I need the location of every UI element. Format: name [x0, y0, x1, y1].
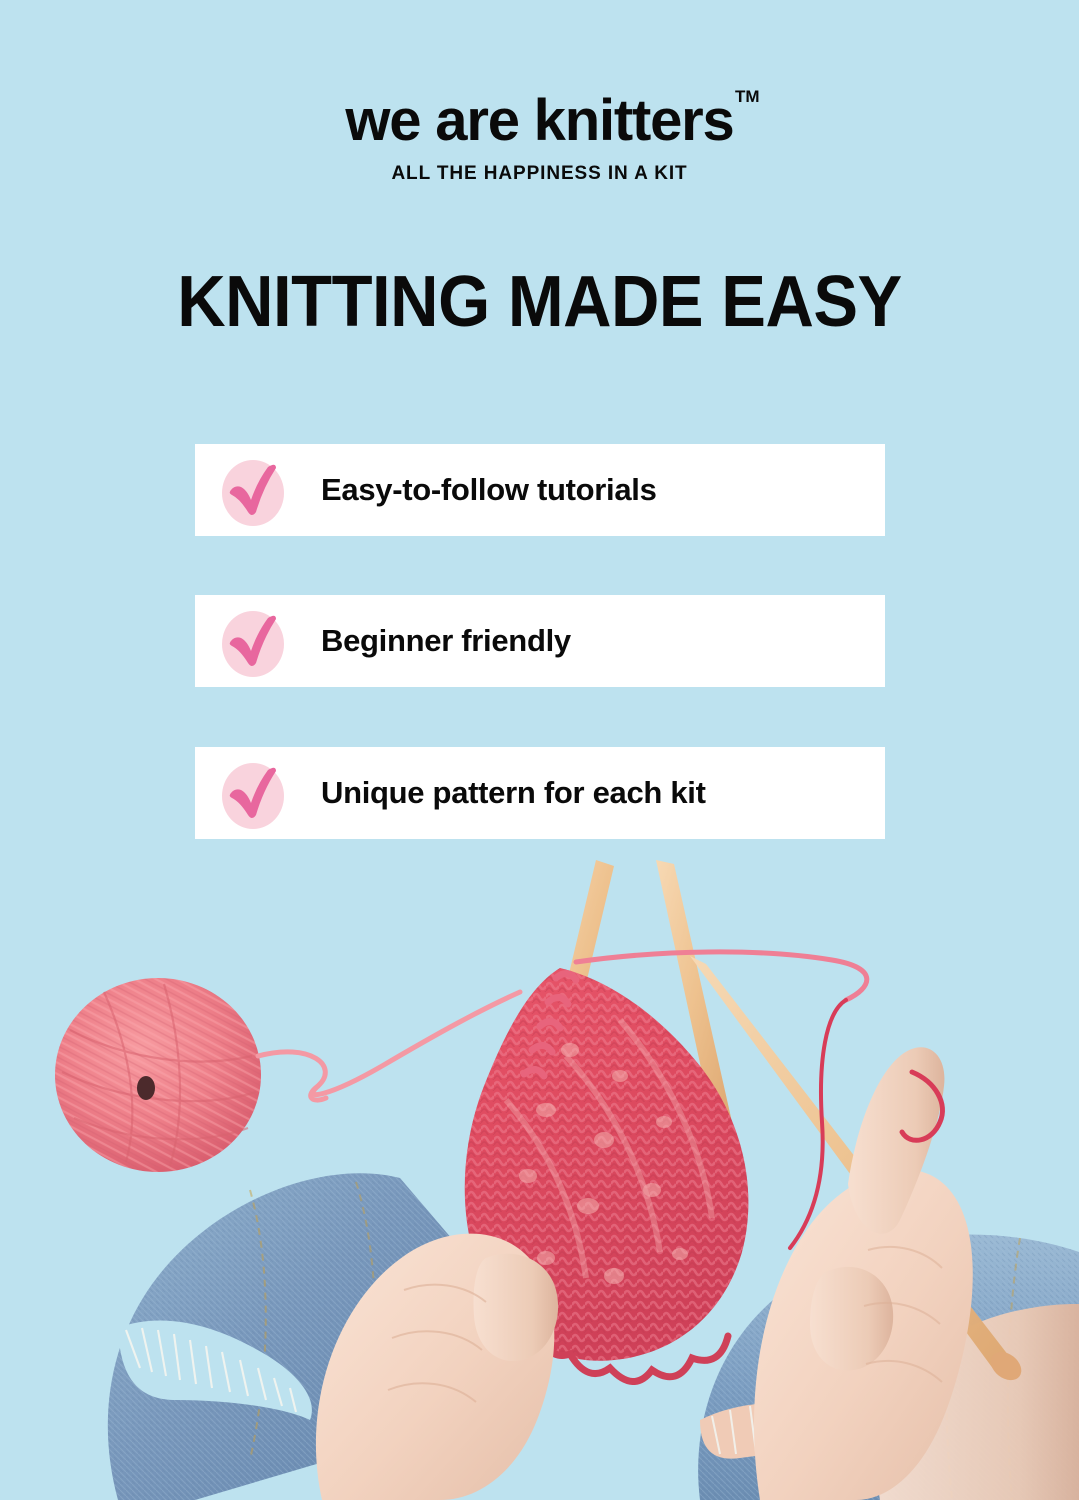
feature-card: Unique pattern for each kit	[195, 747, 885, 839]
brand-wordmark-text: we are knitters	[345, 88, 733, 153]
feature-card: Beginner friendly	[195, 595, 885, 687]
check-mark-glyph	[218, 757, 290, 829]
brand-tagline: ALL THE HAPPINESS IN A KIT	[0, 163, 1079, 185]
brand-wordmark: we are knittersTM	[345, 92, 733, 150]
check-icon	[218, 757, 290, 829]
yarn-ball	[55, 978, 520, 1172]
brand-logo: we are knittersTM ALL THE HAPPINESS IN A…	[0, 92, 1079, 185]
feature-label: Unique pattern for each kit	[321, 775, 706, 811]
feature-label: Beginner friendly	[321, 623, 571, 659]
page-title: KNITTING MADE EASY	[38, 266, 1041, 338]
knitting-photo	[0, 860, 1079, 1500]
feature-card: Easy-to-follow tutorials	[195, 444, 885, 536]
trademark-icon: TM	[735, 88, 760, 105]
check-icon	[218, 454, 290, 526]
knitting-photo-illustration	[0, 860, 1079, 1500]
check-mark-glyph	[218, 605, 290, 677]
feature-label: Easy-to-follow tutorials	[321, 472, 657, 508]
check-icon	[218, 605, 290, 677]
check-mark-glyph	[218, 454, 290, 526]
poster: we are knittersTM ALL THE HAPPINESS IN A…	[0, 0, 1079, 1500]
